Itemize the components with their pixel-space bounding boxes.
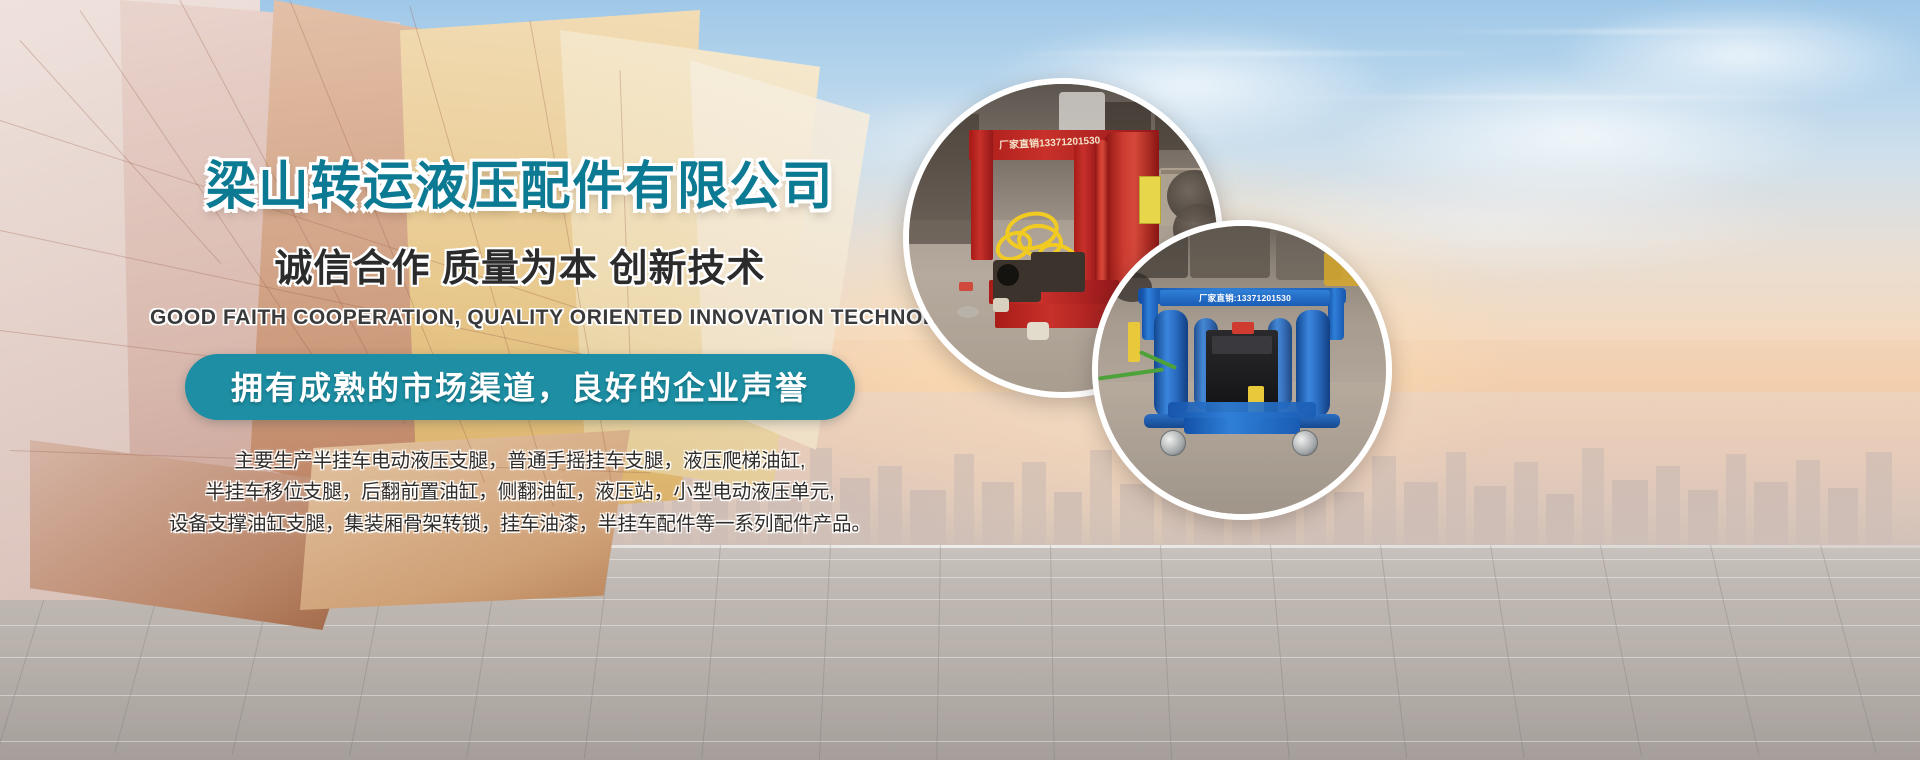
product-description: 主要生产半挂车电动液压支腿，普通手摇挂车支腿，液压爬梯油缸, 半挂车移位支腿，后…	[150, 446, 890, 541]
banner-text-block: 梁山转运液压配件有限公司 诚信合作 质量为本 创新技术 GOOD FAITH C…	[150, 160, 890, 540]
photo-blue-banner: 厂家直销:13371201530	[1160, 290, 1330, 306]
description-line: 设备支撑油缸支腿，集装厢骨架转锁，挂车油漆，半挂车配件等一系列配件产品。	[150, 509, 890, 541]
company-title: 梁山转运液压配件有限公司	[161, 160, 879, 215]
description-line: 半挂车移位支腿，后翻前置油缸，侧翻油缸，液压站，小型电动液压单元,	[150, 477, 890, 509]
highlight-pill: 拥有成熟的市场渠道，良好的企业声誉	[185, 354, 855, 420]
description-line: 主要生产半挂车电动液压支腿，普通手摇挂车支腿，液压爬梯油缸,	[150, 446, 890, 478]
photo-blue-content: 厂家直销:13371201530	[1098, 226, 1386, 514]
hero-banner: 梁山转运液压配件有限公司 诚信合作 质量为本 创新技术 GOOD FAITH C…	[0, 0, 1920, 760]
cloud	[1550, 0, 1920, 110]
slogan-english: GOOD FAITH COOPERATION, QUALITY ORIENTED…	[150, 306, 890, 330]
product-photo-blue: 厂家直销:13371201530	[1092, 220, 1392, 520]
photo-blue-banner-text: 厂家直销:13371201530	[1199, 292, 1291, 304]
highlight-pill-text: 拥有成熟的市场渠道，良好的企业声誉	[231, 370, 809, 406]
slogan-chinese: 诚信合作 质量为本 创新技术	[150, 237, 890, 292]
